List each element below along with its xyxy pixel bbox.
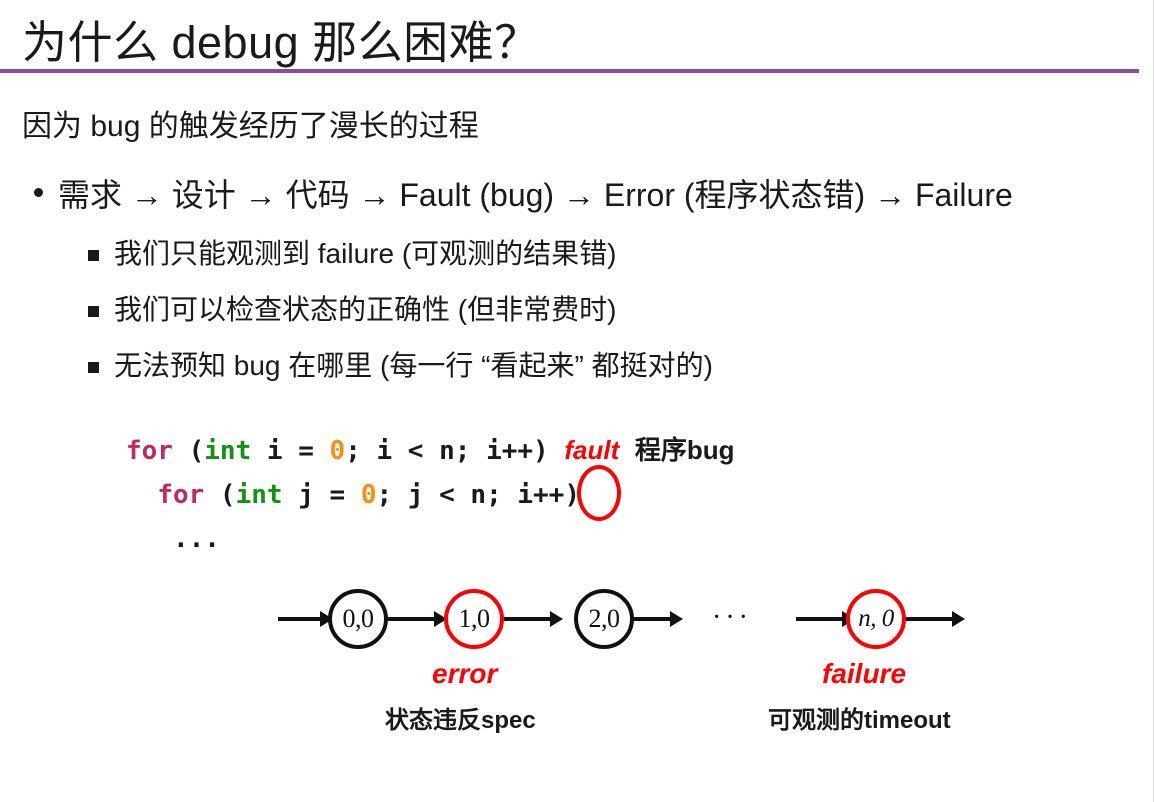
- sub-bullet-label: 无法预知 bug 在哪里 (每一行 “看起来” 都挺对的): [114, 350, 713, 381]
- caption-error-zh: 状态违反spec: [385, 700, 536, 735]
- code-sample: for (int i = 0; i < n; i++) fault 程序bug …: [126, 428, 735, 561]
- lead-sentence: 因为 bug 的触发经历了漫长的过程: [22, 101, 479, 145]
- page-title: 为什么 debug 那么困难？: [22, 6, 540, 71]
- code-text: ; i < n; i++): [345, 436, 549, 466]
- annotation-fault: fault: [564, 435, 619, 465]
- diagram-edge: [278, 617, 326, 621]
- state-diagram: 0,0 1,0 2,0 ··· n, 0 error 状态违反spec fail…: [0, 560, 1154, 750]
- diagram-ellipsis: ···: [712, 602, 752, 634]
- caption-error: error: [432, 658, 497, 690]
- bullet-pipeline-label: 需求 → 设计 → 代码 → Fault (bug) → Error (程序状态…: [58, 177, 1013, 213]
- sub-bullet-observe-failure: 我们只能观测到 failure (可观测的结果错): [88, 232, 616, 272]
- state-node-n-0: n, 0: [846, 589, 906, 649]
- code-text: j =: [283, 480, 361, 510]
- code-literal-zero: 0: [330, 436, 346, 466]
- code-text: ; j < n; i++): [377, 480, 581, 510]
- code-text: i =: [251, 436, 329, 466]
- state-node-1-0: 1,0: [444, 589, 504, 649]
- sub-bullet-label: 我们可以检查状态的正确性 (但非常费时): [114, 294, 616, 325]
- bullet-square-icon: [88, 306, 99, 317]
- sub-bullet-unpredictable-bug: 无法预知 bug 在哪里 (每一行 “看起来” 都挺对的): [88, 344, 713, 384]
- state-node-label: n, 0: [858, 605, 894, 633]
- diagram-edge: [504, 617, 556, 621]
- code-indent: [126, 480, 157, 510]
- sub-bullet-label: 我们只能观测到 failure (可观测的结果错): [114, 238, 616, 269]
- diagram-arrowhead-icon: [670, 611, 683, 627]
- slide-canvas: 为什么 debug 那么困难？ 因为 bug 的触发经历了漫长的过程 需求 → …: [0, 0, 1154, 802]
- code-literal-zero: 0: [361, 480, 377, 510]
- diagram-arrowhead-icon: [550, 611, 563, 627]
- bullet-dot-icon: [34, 188, 43, 197]
- state-node-label: 1,0: [459, 604, 490, 634]
- bullet-square-icon: [88, 362, 99, 373]
- sub-bullet-check-state: 我们可以检查状态的正确性 (但非常费时): [88, 288, 616, 328]
- bug-highlight-ellipse-icon: [577, 465, 621, 521]
- code-keyword-for: for: [126, 436, 173, 466]
- diagram-arrowhead-icon: [952, 611, 965, 627]
- diagram-edge: [388, 617, 440, 621]
- code-type-int: int: [236, 480, 283, 510]
- bullet-pipeline: 需求 → 设计 → 代码 → Fault (bug) → Error (程序状态…: [34, 170, 1013, 216]
- code-ellipsis: ...: [126, 524, 220, 554]
- bullet-square-icon: [88, 250, 99, 261]
- caption-failure: failure: [822, 658, 906, 690]
- code-keyword-for: for: [157, 480, 204, 510]
- title-divider: [0, 69, 1139, 73]
- diagram-edge: [906, 617, 958, 621]
- state-node-label: 0,0: [343, 604, 374, 634]
- code-text: (: [173, 436, 204, 466]
- state-node-0-0: 0,0: [328, 589, 388, 649]
- state-node-label: 2,0: [589, 604, 620, 634]
- annotation-fault-zh: 程序bug: [635, 435, 735, 465]
- caption-failure-zh: 可观测的timeout: [768, 700, 951, 735]
- code-text: (: [204, 480, 235, 510]
- diagram-edge: [796, 617, 848, 621]
- state-node-2-0: 2,0: [574, 589, 634, 649]
- code-type-int: int: [204, 436, 251, 466]
